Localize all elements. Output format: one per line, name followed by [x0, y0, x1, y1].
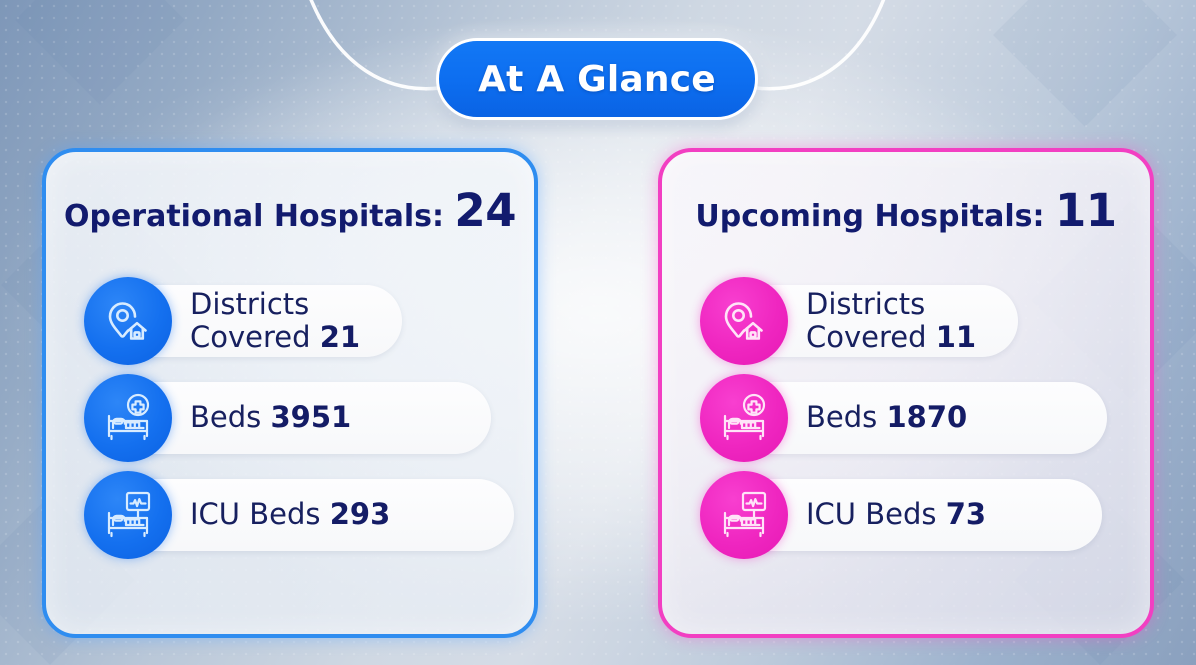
stat-label-group: ICU Beds 73: [806, 498, 986, 530]
page-title: At A Glance: [478, 59, 716, 100]
location-pin-house-icon: [84, 277, 172, 365]
panel-operational-hospitals: Operational Hospitals: 24 Districts Cove…: [42, 148, 538, 638]
panel-title-label: Operational Hospitals:: [64, 199, 444, 234]
page-title-badge: At A Glance: [436, 38, 758, 120]
stat-label-line1: Districts: [806, 288, 976, 320]
icu-bed-monitor-icon: [84, 471, 172, 559]
stat-label-line2: Covered: [190, 320, 311, 354]
stat-value: 293: [330, 497, 391, 531]
panel-upcoming-hospitals: Upcoming Hospitals: 11 Districts Covered…: [658, 148, 1154, 638]
stat-label-line1: Beds: [806, 400, 877, 434]
hospital-bed-cross-icon: [700, 374, 788, 462]
stat-label-group: Districts Covered 21: [190, 288, 360, 353]
stat-row-districts-covered[interactable]: Districts Covered 21: [46, 272, 534, 369]
hospital-bed-cross-icon: [84, 374, 172, 462]
stat-label-line1: ICU Beds: [190, 497, 321, 531]
panel-title-label: Upcoming Hospitals:: [695, 199, 1044, 234]
stat-row-beds[interactable]: Beds 1870: [662, 369, 1150, 466]
panel-title-upcoming: Upcoming Hospitals: 11: [662, 184, 1150, 237]
stat-value: 11: [936, 320, 976, 354]
stat-label-group: Districts Covered 11: [806, 288, 976, 353]
panel-title-count: 24: [454, 184, 516, 237]
stats-list-upcoming: Districts Covered 11: [662, 272, 1150, 563]
stat-label-group: ICU Beds 293: [190, 498, 390, 530]
stat-value: 1870: [886, 400, 967, 434]
stat-row-icu-beds[interactable]: ICU Beds 293: [46, 466, 534, 563]
panel-title-operational: Operational Hospitals: 24: [46, 184, 534, 237]
stat-label-line1: Districts: [190, 288, 360, 320]
stat-label-line2: Covered: [806, 320, 927, 354]
stat-value: 73: [946, 497, 986, 531]
stat-value: 3951: [270, 400, 351, 434]
stat-label-line1: Beds: [190, 400, 261, 434]
panel-title-count: 11: [1055, 184, 1117, 237]
stat-label-line1: ICU Beds: [806, 497, 937, 531]
stats-list-operational: Districts Covered 21: [46, 272, 534, 563]
stat-label-group: Beds 3951: [190, 401, 351, 433]
stat-row-districts-covered[interactable]: Districts Covered 11: [662, 272, 1150, 369]
location-pin-house-icon: [700, 277, 788, 365]
stat-row-icu-beds[interactable]: ICU Beds 73: [662, 466, 1150, 563]
icu-bed-monitor-icon: [700, 471, 788, 559]
stat-value: 21: [320, 320, 360, 354]
stat-label-group: Beds 1870: [806, 401, 967, 433]
stat-row-beds[interactable]: Beds 3951: [46, 369, 534, 466]
